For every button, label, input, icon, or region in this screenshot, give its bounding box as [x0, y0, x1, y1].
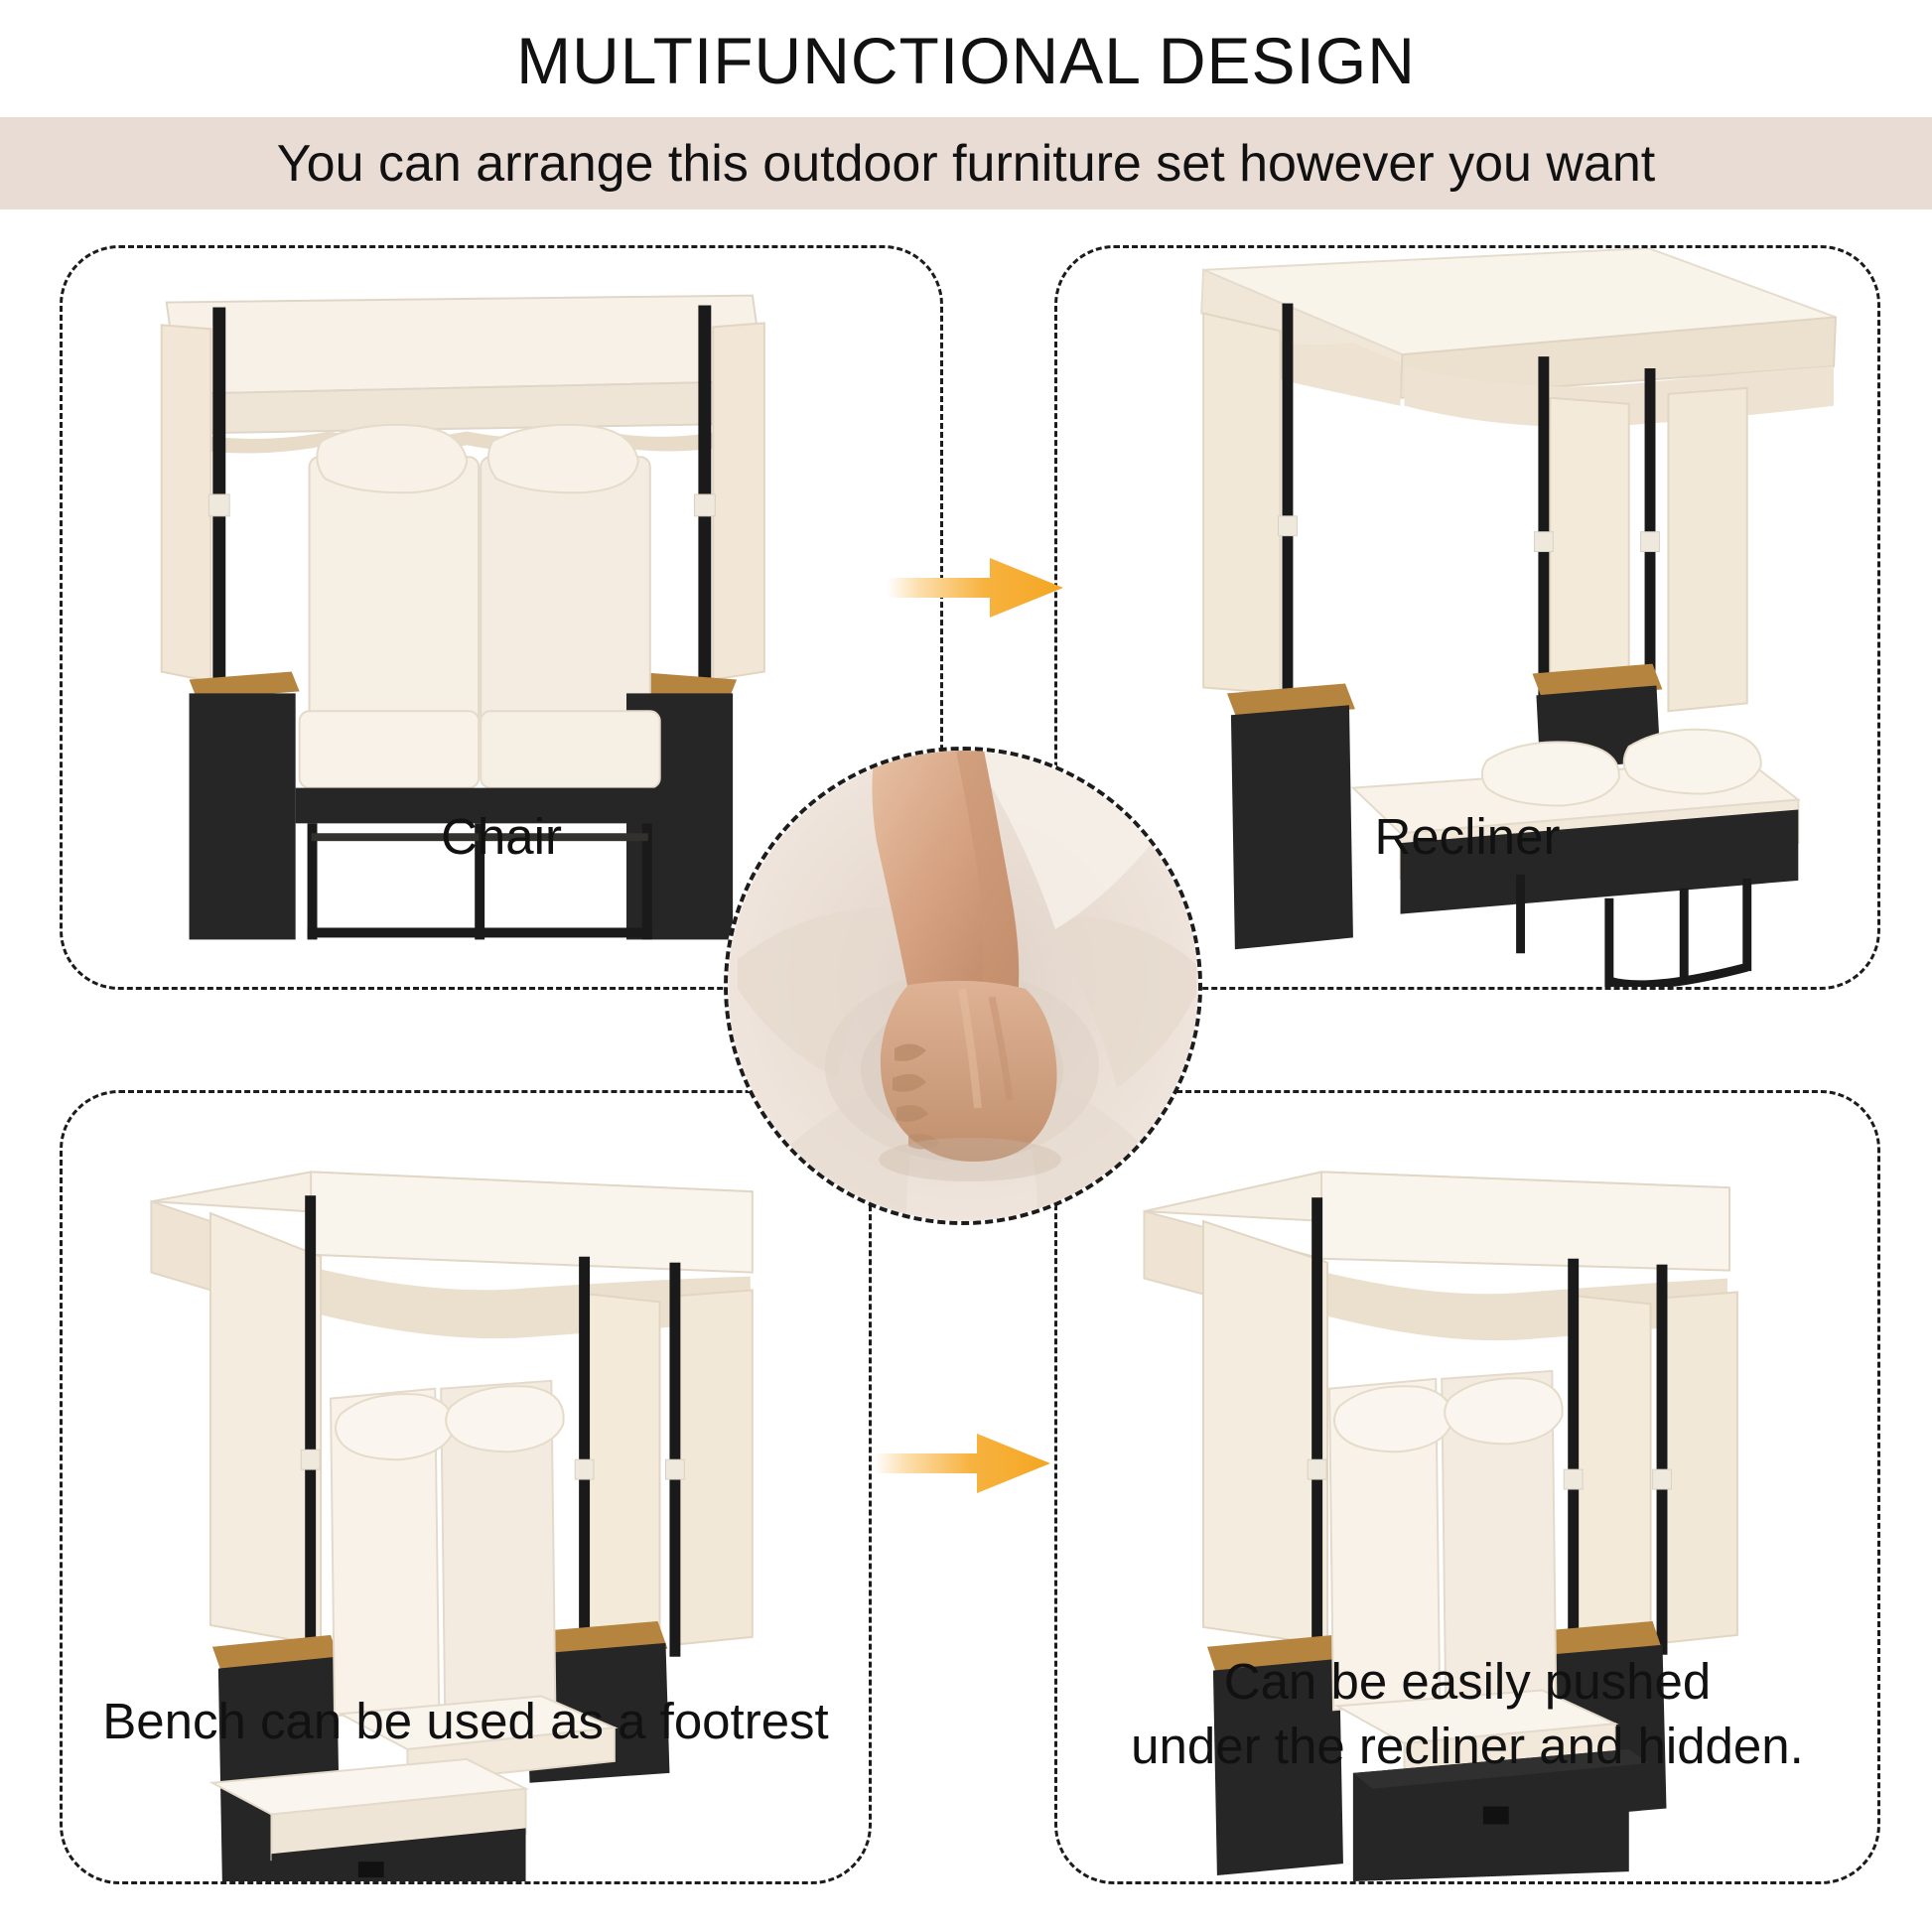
- cushion-detail-circle: [724, 747, 1202, 1225]
- panel-recliner: Recliner: [1054, 245, 1880, 990]
- panel-caption-recliner: Recliner: [1057, 804, 1877, 869]
- page-title: MULTIFUNCTIONAL DESIGN: [0, 6, 1932, 115]
- hand-pressing-cushion-icon: [728, 751, 1198, 1221]
- panel-caption-bench: Bench can be used as a footrest: [63, 1689, 869, 1753]
- panel-bench: Bench can be used as a footrest: [60, 1090, 872, 1884]
- subtitle-band: You can arrange this outdoor furniture s…: [0, 117, 1932, 209]
- page-subtitle: You can arrange this outdoor furniture s…: [0, 117, 1932, 209]
- flow-arrow-right-bottom: [874, 1428, 1050, 1499]
- panel-caption-hidden: Can be easily pushed under the recliner …: [1057, 1649, 1877, 1779]
- bench-illustration: [63, 1093, 869, 1881]
- panel-hidden: Can be easily pushed under the recliner …: [1054, 1090, 1880, 1884]
- flow-arrow-right-top: [887, 552, 1063, 623]
- recliner-illustration: [1057, 248, 1877, 987]
